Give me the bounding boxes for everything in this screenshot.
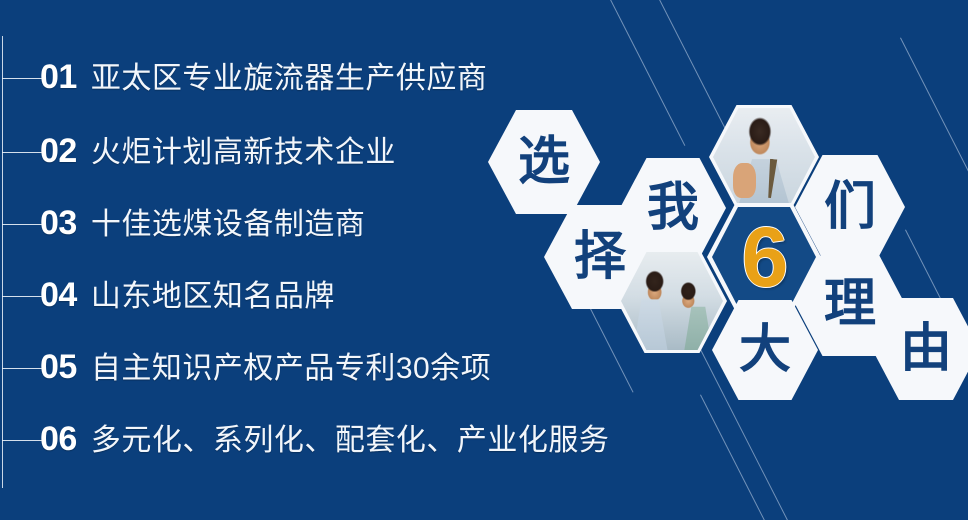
reason-text: 火炬计划高新技术企业 xyxy=(91,138,396,168)
reason-item: 02 火炬计划高新技术企业 xyxy=(40,134,396,168)
hex-glyph: 由 xyxy=(900,323,952,375)
photo-thumb-up xyxy=(733,163,755,198)
hex-six: 6 xyxy=(712,207,816,307)
hex-glyph: 理 xyxy=(824,278,876,330)
hex-men: 们 xyxy=(795,155,905,259)
reason-item: 01 亚太区专业旋流器生产供应商 xyxy=(40,60,487,94)
reason-number: 05 xyxy=(40,350,77,384)
hex-glyph: 我 xyxy=(647,182,699,234)
reason-text: 多元化、系列化、配套化、产业化服务 xyxy=(91,426,610,456)
diagonal-line-7 xyxy=(700,395,767,520)
reason-text: 山东地区知名品牌 xyxy=(91,282,335,312)
promo-banner: 01 亚太区专业旋流器生产供应商 02 火炬计划高新技术企业 03 十佳选煤设备… xyxy=(0,0,968,520)
reason-item: 04 山东地区知名品牌 xyxy=(40,278,335,312)
hex-photo-man: smiling-businessman-thumbs-up xyxy=(713,108,815,206)
reason-item: 05 自主知识产权产品专利30余项 xyxy=(40,350,491,384)
reason-text: 亚太区专业旋流器生产供应商 xyxy=(91,64,488,94)
reason-text: 十佳选煤设备制造商 xyxy=(91,210,366,240)
reasons-list: 01 亚太区专业旋流器生产供应商 02 火炬计划高新技术企业 03 十佳选煤设备… xyxy=(0,0,640,520)
hex-glyph: 大 xyxy=(739,324,791,376)
reason-item: 03 十佳选煤设备制造商 xyxy=(40,206,365,240)
hex-glyph: 择 xyxy=(574,231,626,283)
hex-glyph: 们 xyxy=(824,181,876,233)
reason-number: 04 xyxy=(40,278,77,312)
photo-shirt-right xyxy=(678,303,717,350)
reason-number: 06 xyxy=(40,422,77,456)
hex-glyph: 选 xyxy=(518,136,570,188)
diagonal-line-3 xyxy=(900,38,968,172)
reason-text: 自主知识产权产品专利30余项 xyxy=(91,354,491,384)
reason-number: 01 xyxy=(40,60,77,94)
hex-glyph-six: 6 xyxy=(742,215,787,299)
reason-item: 06 多元化、系列化、配套化、产业化服务 xyxy=(40,422,609,456)
reason-number: 03 xyxy=(40,206,77,240)
reason-number: 02 xyxy=(40,134,77,168)
